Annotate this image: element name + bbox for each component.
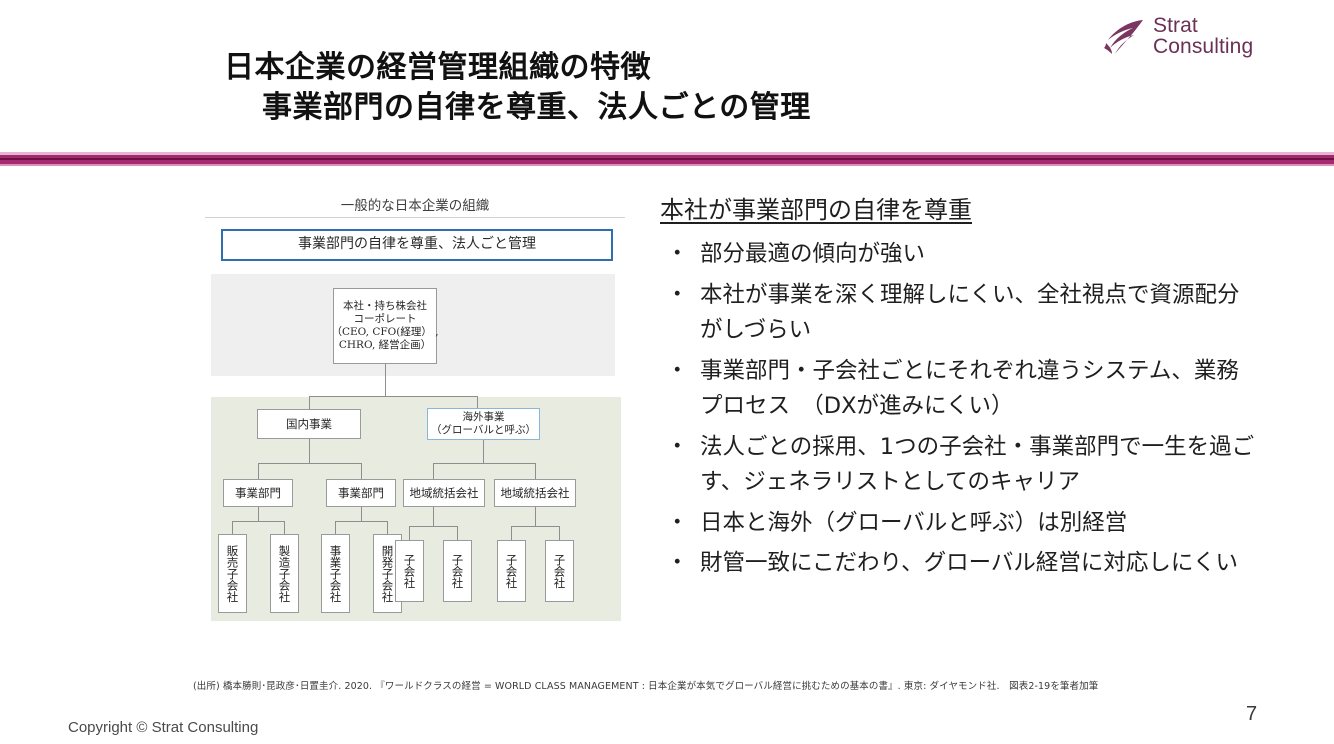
connector-corp-down bbox=[385, 364, 386, 396]
node-overseas-business: 海外事業 （グローバルと呼ぶ） bbox=[427, 408, 540, 440]
node-overseas-sub-4: 子会社 bbox=[545, 540, 574, 602]
bullet-text: 法人ごとの採用、1つの子会社・事業部門で一生を過ごす、ジェネラリストとしてのキャ… bbox=[700, 430, 1260, 501]
connector-sub-business bbox=[335, 521, 336, 534]
key-points-list: ・ 部分最適の傾向が強い ・ 本社が事業を深く理解しにくい、全社視点で資源配分が… bbox=[660, 237, 1260, 582]
division-2-label: 事業部門 bbox=[338, 486, 384, 500]
connector-rhq2-subs-split bbox=[511, 526, 559, 527]
connector-osub-4 bbox=[559, 526, 560, 540]
connector-div1-subs-split bbox=[232, 521, 284, 522]
diagram-banner: 事業部門の自律を尊重、法人ごと管理 bbox=[221, 229, 613, 261]
bullet-text: 部分最適の傾向が強い bbox=[700, 237, 1260, 273]
connector-division-2 bbox=[361, 463, 362, 479]
logo-line-1: Strat bbox=[1153, 16, 1253, 37]
slide-title: 日本企業の経営管理組織の特徴 事業部門の自律を尊重、法人ごとの管理 bbox=[224, 48, 1084, 128]
node-sub-sales: 販売子会社 bbox=[218, 534, 247, 613]
connector-rhq-1 bbox=[433, 463, 434, 479]
page-number: 7 bbox=[1246, 703, 1257, 726]
node-regional-hq-1: 地域統括会社 bbox=[403, 479, 485, 507]
key-points-heading: 本社が事業部門の自律を尊重 bbox=[660, 190, 1260, 225]
connector-sub-manufacturing bbox=[284, 521, 285, 534]
list-item: ・ 本社が事業を深く理解しにくい、全社視点で資源配分がしづらい bbox=[660, 278, 1260, 349]
strat-swoosh-icon bbox=[1103, 16, 1145, 58]
connector-division-1 bbox=[258, 463, 259, 479]
connector-corp-split bbox=[309, 396, 478, 397]
connector-overseas-down bbox=[483, 440, 484, 463]
connector-rhq1-subs-split bbox=[409, 526, 457, 527]
title-line-2: 事業部門の自律を尊重、法人ごとの管理 bbox=[224, 88, 1084, 128]
regional-hq-1-label: 地域統括会社 bbox=[410, 486, 479, 500]
node-overseas-sub-1: 子会社 bbox=[395, 540, 424, 602]
overseas-sub-1-label: 子会社 bbox=[403, 554, 417, 589]
logo-line-2: Consulting bbox=[1153, 37, 1253, 58]
org-chart-diagram: 一般的な日本企業の組織 事業部門の自律を尊重、法人ごと管理 本社・持ち株会社 コ… bbox=[205, 194, 625, 629]
copyright-text: Copyright © Strat Consulting bbox=[68, 719, 258, 736]
sub-sales-label: 販売子会社 bbox=[226, 545, 240, 603]
connector-sub-development bbox=[387, 521, 388, 534]
connector-rhq-split bbox=[433, 463, 535, 464]
list-item: ・ 日本と海外（グローバルと呼ぶ）は別経営 bbox=[660, 506, 1260, 542]
node-sub-business: 事業子会社 bbox=[321, 534, 350, 613]
node-corporate: 本社・持ち株会社 コーポレート （CEO, CFO(経理） , CHRO, 経営… bbox=[333, 288, 437, 364]
overseas-line-2: （グローバルと呼ぶ） bbox=[431, 424, 536, 437]
overseas-line-1: 海外事業 bbox=[463, 411, 505, 424]
org-chart-canvas: 本社・持ち株会社 コーポレート （CEO, CFO(経理） , CHRO, 経営… bbox=[205, 274, 625, 624]
overseas-sub-2-label: 子会社 bbox=[451, 554, 465, 589]
connector-osub-2 bbox=[457, 526, 458, 540]
node-overseas-sub-3: 子会社 bbox=[497, 540, 526, 602]
connector-rhq2-down bbox=[535, 507, 536, 526]
diagram-header-label: 一般的な日本企業の組織 bbox=[205, 194, 625, 217]
divider-bottom-edge bbox=[0, 164, 1334, 166]
division-1-label: 事業部門 bbox=[235, 486, 281, 500]
bullet-text: 財管一致にこだわり、グローバル経営に対応しにくい bbox=[700, 546, 1260, 582]
overseas-sub-4-label: 子会社 bbox=[553, 554, 567, 589]
bullet-marker: ・ bbox=[660, 237, 700, 273]
node-division-2: 事業部門 bbox=[326, 479, 396, 507]
list-item: ・ 事業部門・子会社ごとにそれぞれ違うシステム、業務プロセス （DXが進みにくい… bbox=[660, 354, 1260, 425]
connector-osub-3 bbox=[511, 526, 512, 540]
regional-hq-2-label: 地域統括会社 bbox=[501, 486, 570, 500]
bullet-marker: ・ bbox=[660, 546, 700, 582]
bullet-text: 日本と海外（グローバルと呼ぶ）は別経営 bbox=[700, 506, 1260, 542]
bullet-text: 本社が事業を深く理解しにくい、全社視点で資源配分がしづらい bbox=[700, 278, 1260, 349]
sub-business-label: 事業子会社 bbox=[329, 545, 343, 603]
bullet-marker: ・ bbox=[660, 506, 700, 542]
key-points-panel: 本社が事業部門の自律を尊重 ・ 部分最適の傾向が強い ・ 本社が事業を深く理解し… bbox=[660, 190, 1260, 587]
corporate-line-1: 本社・持ち株会社 bbox=[343, 300, 427, 313]
node-domestic-business: 国内事業 bbox=[257, 409, 361, 439]
node-division-1: 事業部門 bbox=[223, 479, 293, 507]
connector-div2-down bbox=[361, 507, 362, 521]
node-overseas-sub-2: 子会社 bbox=[443, 540, 472, 602]
domestic-label: 国内事業 bbox=[286, 417, 332, 431]
bullet-marker: ・ bbox=[660, 278, 700, 349]
connector-to-domestic bbox=[309, 396, 310, 409]
corporate-line-2: コーポレート bbox=[354, 313, 417, 326]
corporate-line-4: CHRO, 経営企画） bbox=[339, 339, 431, 352]
bullet-marker: ・ bbox=[660, 430, 700, 501]
logo-wordmark: Strat Consulting bbox=[1153, 16, 1253, 57]
connector-rhq1-down bbox=[433, 507, 434, 526]
sub-development-label: 開発子会社 bbox=[381, 545, 395, 603]
sub-manufacturing-label: 製造子会社 bbox=[278, 545, 292, 603]
title-line-1: 日本企業の経営管理組織の特徴 bbox=[224, 48, 1084, 88]
connector-divisions-split bbox=[258, 463, 361, 464]
overseas-sub-3-label: 子会社 bbox=[505, 554, 519, 589]
source-citation: (出所) 橋本勝則･昆政彦･日置圭介. 2020. 『ワールドクラスの経営 = … bbox=[193, 678, 1193, 692]
corporate-line-3: （CEO, CFO(経理） , bbox=[331, 326, 438, 339]
bullet-marker: ・ bbox=[660, 354, 700, 425]
list-item: ・ 法人ごとの採用、1つの子会社・事業部門で一生を過ごす、ジェネラリストとしての… bbox=[660, 430, 1260, 501]
list-item: ・ 部分最適の傾向が強い bbox=[660, 237, 1260, 273]
connector-osub-1 bbox=[409, 526, 410, 540]
connector-sub-sales bbox=[232, 521, 233, 534]
connector-domestic-down bbox=[309, 439, 310, 463]
connector-rhq-2 bbox=[535, 463, 536, 479]
node-regional-hq-2: 地域統括会社 bbox=[494, 479, 576, 507]
list-item: ・ 財管一致にこだわり、グローバル経営に対応しにくい bbox=[660, 546, 1260, 582]
node-sub-manufacturing: 製造子会社 bbox=[270, 534, 299, 613]
connector-div1-down bbox=[258, 507, 259, 521]
bullet-text: 事業部門・子会社ごとにそれぞれ違うシステム、業務プロセス （DXが進みにくい） bbox=[700, 354, 1260, 425]
connector-div2-subs-split bbox=[335, 521, 387, 522]
diagram-header-rule bbox=[205, 217, 625, 218]
header-divider-band bbox=[0, 152, 1334, 166]
brand-logo: Strat Consulting bbox=[1103, 13, 1293, 61]
